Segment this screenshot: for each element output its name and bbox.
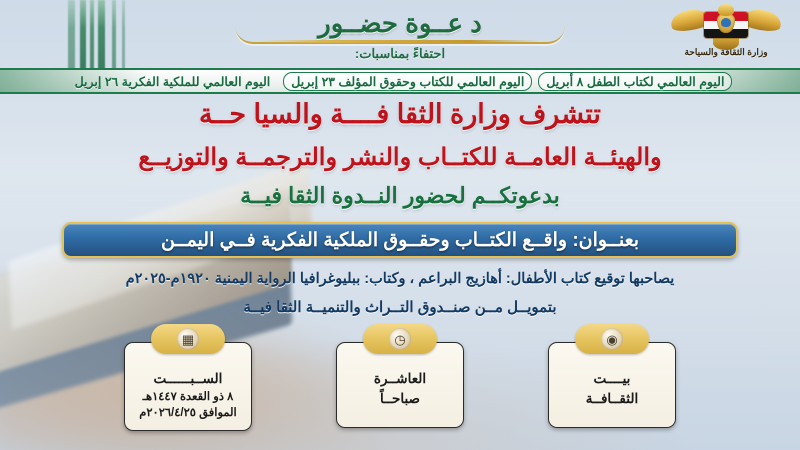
venue-card: ◉ بيــــت الثقــافــة: [548, 336, 676, 428]
note-book-signing: يصاحبها توقيع كتاب الأطفال: أهازيج البرا…: [0, 271, 800, 287]
date-hijri: ٨ ذو القعدة ١٤٤٧هـ: [133, 389, 243, 406]
occasion-intro: احتفاءً بمناسبات:: [0, 46, 800, 62]
page-title: د عــوة حضــور: [0, 8, 800, 39]
venue-card-tab: ◉: [575, 324, 649, 354]
date-card-body: الســبــــــت ٨ ذو القعدة ١٤٤٧هـ الموافق…: [124, 342, 252, 431]
seminar-topic-label: بعنــوان: واقــع الكتــاب وحقــوق الملكي…: [161, 229, 639, 252]
time-line-2: صباحــاً: [345, 389, 455, 409]
time-card: ◷ العاشــرة صباحــاً: [336, 336, 464, 428]
venue-card-body: بيــــت الثقــافــة: [548, 342, 676, 428]
calendar-icon: ▦: [177, 328, 199, 350]
time-card-tab: ◷: [363, 324, 437, 354]
note-funding: بتمويــل مــن صنــدوق التــراث والتنميــ…: [0, 298, 800, 316]
venue-line-2: الثقــافــة: [557, 389, 667, 409]
date-card: ▦ الســبــــــت ٨ ذو القعدة ١٤٤٧هـ الموا…: [124, 336, 252, 431]
time-line-1: العاشــرة: [345, 369, 455, 389]
occasions-banner: اليوم العالمي لكتاب الطفل ٨ أبريل اليوم …: [0, 68, 800, 94]
date-card-tab: ▦: [151, 324, 225, 354]
info-cards: ◉ بيــــت الثقــافــة ◷ العاشــرة صباحــ…: [0, 336, 800, 446]
body-line-3: بدعوتكــم لحضور النــدوة الثقا فيــة: [0, 183, 800, 209]
seminar-topic-bar: بعنــوان: واقــع الكتــاب وحقــوق الملكي…: [62, 222, 738, 258]
location-pin-icon: ◉: [601, 328, 623, 350]
invitation-poster: وزارة الثقافة والسياحة د عــوة حضــور اح…: [0, 0, 800, 450]
date-gregorian: الموافق ٢٠٢٦/٤/٢٥م: [133, 405, 243, 422]
title-underline: [260, 40, 540, 43]
banner-item-ip-day: اليوم العالمي للملكية الفكرية ٢٦ إبريل: [68, 73, 278, 90]
date-weekday: الســبــــــت: [133, 369, 243, 389]
occasions-banner-items: اليوم العالمي لكتاب الطفل ٨ أبريل اليوم …: [68, 72, 733, 91]
body-line-2: والهيئــة العامــة للكتــاب والنشر والتر…: [0, 143, 800, 172]
banner-item-book-copyright-day: اليوم العالمي للكتاب وحقوق المؤلف ٢٣ إبر…: [283, 72, 532, 91]
venue-line-1: بيــــت: [557, 369, 667, 389]
time-card-body: العاشــرة صباحــاً: [336, 342, 464, 428]
banner-item-child-book-day: اليوم العالمي لكتاب الطفل ٨ أبريل: [538, 72, 732, 91]
clock-icon: ◷: [389, 328, 411, 350]
body-line-1: تتشرف وزارة الثقا فــــة والسيا حــة: [0, 99, 800, 130]
